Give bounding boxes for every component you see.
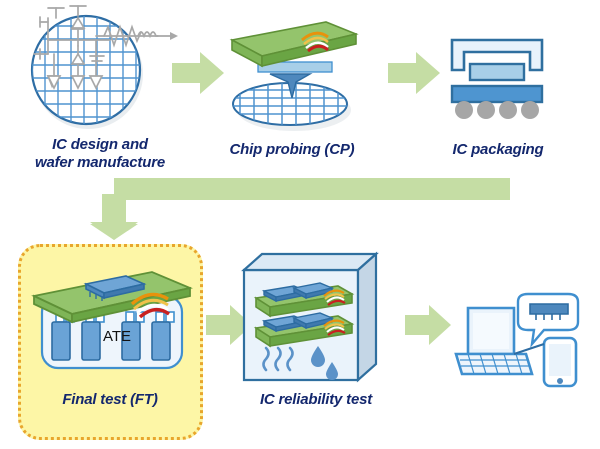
caption-ic-design: IC design and wafer manufacture (10, 136, 190, 172)
connector-reliability-to-products (405, 305, 451, 345)
caption-ic-packaging: IC packaging (428, 141, 568, 159)
caption-chip-probing: Chip probing (CP) (212, 141, 372, 159)
step-final-test[interactable]: ATE (28, 268, 196, 378)
caption-final-test: Final test (FT) (20, 391, 200, 409)
connector-packaging-to-final-test (90, 178, 510, 240)
connector-design-to-cp (172, 52, 224, 94)
step-chip-probing[interactable] (222, 18, 362, 130)
package-bga-icon (438, 28, 558, 126)
connector-cp-to-packaging (388, 52, 440, 94)
reliability-chamber-icon (240, 250, 386, 386)
step-reliability-test[interactable] (240, 250, 386, 386)
laptop-phone-icon (452, 292, 588, 388)
probe-card-wafer-icon (222, 18, 362, 130)
caption-reliability-test: IC reliability test (226, 391, 406, 409)
wafer-circuit-icon (18, 2, 178, 132)
step-ic-design[interactable] (18, 2, 178, 132)
flow-diagram-canvas: IC design and wafer manufacture (0, 0, 600, 449)
ate-label: ATE (94, 328, 140, 345)
step-ic-packaging[interactable] (438, 28, 558, 126)
step-end-products[interactable] (452, 292, 588, 388)
ate-tester-icon (28, 268, 196, 378)
